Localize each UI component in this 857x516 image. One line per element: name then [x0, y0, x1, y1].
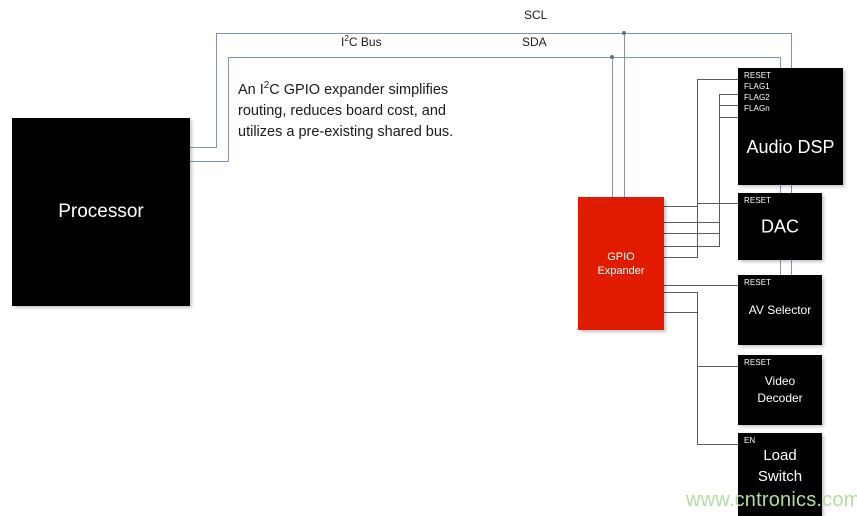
i2c-bus-suffix: C Bus	[349, 35, 382, 49]
wire-dsp-flagn-riser	[719, 117, 720, 247]
pin-flagn: FLAGn	[744, 103, 771, 114]
wire-dac-reset-riser	[697, 203, 698, 258]
wire-scl-horizontal	[216, 33, 792, 34]
wire-scl-drop-gpio	[624, 33, 625, 198]
wire-gpio-trunk-dsp	[697, 79, 698, 207]
callout-text: An I2C GPIO expander simplifies routing,…	[238, 80, 538, 143]
wire-gpio-out-8	[664, 312, 698, 313]
video-decoder-line1: Video	[765, 374, 795, 388]
junction-dot-sda	[610, 55, 614, 59]
gpio-label-line1: GPIO	[607, 251, 635, 263]
block-video-decoder-label: Video Decoder	[738, 373, 822, 407]
wire-gpio-out-6	[664, 285, 739, 286]
junction-dot-scl	[622, 31, 626, 35]
block-gpio-expander-label: GPIO Expander	[578, 250, 664, 278]
pin-reset: RESET	[744, 70, 771, 81]
block-processor[interactable]: Processor	[12, 118, 190, 306]
wire-trunk-lower	[697, 292, 698, 445]
block-audio-dsp[interactable]: RESET FLAG1 FLAG2 FLAGn Audio DSP	[738, 68, 843, 185]
pin-flag1: FLAG1	[744, 81, 771, 92]
wire-dac-reset	[697, 203, 739, 204]
diagram-canvas: Processor GPIO Expander RESET FLAG1 FLAG…	[0, 0, 857, 516]
label-i2c-bus: I2C Bus	[341, 35, 382, 49]
wire-gpio-out-5	[664, 257, 698, 258]
gpio-label-line2: Expander	[597, 265, 644, 277]
wire-gpio-out-7	[664, 292, 698, 293]
wire-scl-riser-left	[216, 33, 217, 147]
block-gpio-expander[interactable]: GPIO Expander	[578, 197, 664, 330]
wire-gpio-out-1	[664, 206, 698, 207]
wire-gpio-out-3	[664, 233, 720, 234]
pin-flag2: FLAG2	[744, 92, 771, 103]
block-av-selector[interactable]: RESET AV Selector	[738, 275, 822, 345]
load-switch-line2: Switch	[758, 468, 802, 485]
callout-line1-post: C GPIO expander simplifies	[269, 82, 448, 98]
label-scl: SCL	[524, 8, 547, 22]
label-sda: SDA	[522, 35, 547, 49]
wire-video-decoder-reset	[697, 366, 739, 367]
block-load-switch-label: Load Switch	[738, 445, 822, 487]
block-video-decoder[interactable]: RESET Video Decoder	[738, 355, 822, 425]
block-audio-dsp-pins: RESET FLAG1 FLAG2 FLAGn	[744, 70, 771, 114]
wire-dsp-flagn	[719, 117, 739, 118]
wire-dsp-flag2	[719, 105, 739, 106]
wire-scl-stub-processor	[190, 147, 217, 148]
wire-sda-horizontal	[228, 57, 781, 58]
block-dac[interactable]: RESET DAC	[738, 193, 822, 260]
callout-line1-pre: An I	[238, 82, 264, 98]
callout-line2: routing, reduces board cost, and	[238, 103, 446, 119]
callout-line3: utilizes a pre-existing shared bus.	[238, 124, 453, 140]
wire-dsp-flag1	[719, 94, 739, 95]
video-decoder-line2: Decoder	[757, 391, 802, 405]
block-dac-label: DAC	[738, 216, 822, 237]
wire-sda-drop-gpio	[612, 57, 613, 198]
wire-sda-stub-processor	[190, 161, 229, 162]
wire-gpio-out-2	[664, 222, 720, 223]
wire-load-switch-en	[697, 444, 739, 445]
wire-sda-riser-left	[228, 57, 229, 162]
block-audio-dsp-label: Audio DSP	[738, 137, 843, 158]
pin-reset: RESET	[744, 357, 771, 368]
watermark: www.cntronics.com	[686, 489, 857, 512]
block-processor-label: Processor	[12, 201, 190, 223]
wire-dsp-reset	[697, 79, 739, 80]
pin-reset: RESET	[744, 277, 771, 288]
wire-gpio-out-4	[664, 246, 720, 247]
load-switch-line1: Load	[763, 447, 796, 464]
pin-reset: RESET	[744, 195, 771, 206]
block-av-selector-label: AV Selector	[738, 303, 822, 317]
